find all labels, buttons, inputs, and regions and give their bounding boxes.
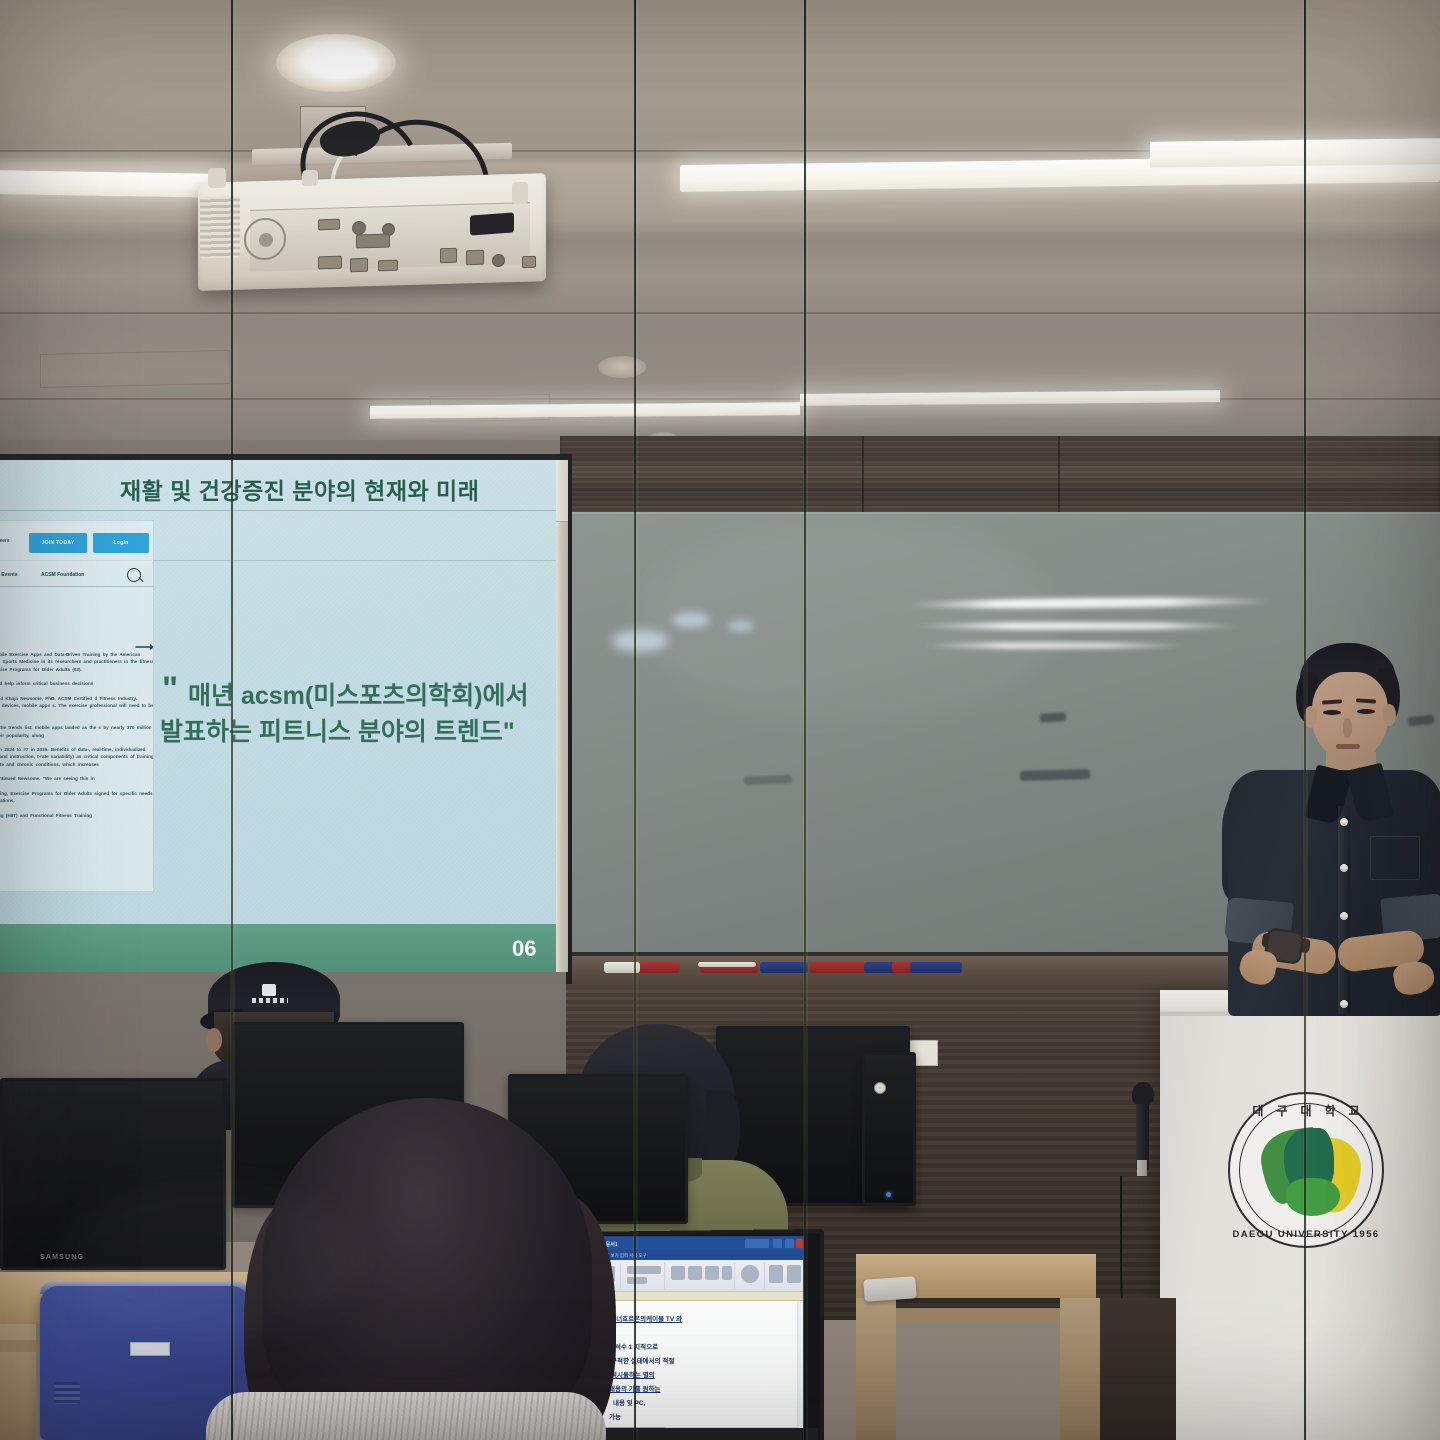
- microphone-band: [1137, 1160, 1147, 1176]
- webpage-paragraph: ology, Mobile Exercise Apps and Data-Dri…: [0, 651, 154, 673]
- student-ear: [206, 1028, 222, 1052]
- projector-port: [318, 219, 340, 231]
- presenter-eye: [1323, 710, 1341, 715]
- slide-divider: [0, 510, 556, 511]
- presenter-nose: [1343, 718, 1352, 738]
- webpage-paragraph: ntion," said Khaja Newsome, PhD, ACSM Ce…: [0, 695, 154, 717]
- document-text-line: 내용 및 PC,: [613, 1397, 645, 1407]
- classroom-photo-scene: 재활 및 건강증진 분야의 현재와 미래 Careers JOIN TODAY …: [0, 0, 1440, 1440]
- student-hair-foreground: [262, 1098, 592, 1440]
- glass-mullion: [1304, 0, 1306, 1440]
- smartphone-on-desk[interactable]: [863, 1276, 916, 1302]
- window-restore-button[interactable]: [745, 1239, 769, 1248]
- projector-foot: [208, 168, 226, 189]
- desktop-monitor: [0, 1078, 226, 1270]
- projector-port: [378, 260, 398, 272]
- webpage-paragraph: Programming, Exercise Programs for Older…: [0, 790, 154, 805]
- document-ruler: [587, 1292, 804, 1301]
- projector-vga-port: [356, 234, 390, 249]
- ceiling-strip-light: [0, 170, 215, 197]
- webpage-nav-foundation[interactable]: ACSM Foundation: [41, 572, 84, 578]
- ceiling-strip-light: [1150, 138, 1440, 168]
- presenter-shirt-placket: [1338, 806, 1350, 1014]
- monitor-brand-label: SAMSUNG: [40, 1254, 84, 1261]
- whiteboard-smudge: [744, 775, 792, 785]
- webpage-paragraph: ations, and help inform critical busines…: [0, 680, 154, 687]
- ceiling-seam: [0, 312, 1440, 314]
- webpage-paragraph: items on the trends list, mobile apps la…: [0, 724, 154, 739]
- glass-mullion: [231, 0, 233, 1440]
- projector-cable-plug: [470, 212, 514, 235]
- whiteboard-marker-red[interactable]: [810, 962, 870, 973]
- wood-panel-seam: [1058, 436, 1060, 514]
- desk-side-panel: [856, 1298, 896, 1440]
- desktop-monitor: [862, 1052, 916, 1206]
- shape-icon[interactable]: [741, 1265, 759, 1283]
- presenter-shirt-button: [1340, 1000, 1348, 1008]
- microphone-head[interactable]: [1132, 1082, 1154, 1106]
- glass-mullion: [804, 0, 806, 1440]
- document-text-line: 가능: [609, 1411, 621, 1421]
- desk-side-panel: [1060, 1298, 1100, 1440]
- whiteboard-marker-cap: [698, 962, 756, 967]
- document-ribbon[interactable]: [587, 1260, 804, 1292]
- floor: [1096, 1298, 1176, 1440]
- underline-icon[interactable]: [705, 1266, 719, 1280]
- webpage-careers-link[interactable]: Careers: [0, 538, 10, 544]
- table-icon[interactable]: [769, 1265, 783, 1283]
- whiteboard-light-reflection: [912, 622, 1242, 630]
- projector-port: [440, 248, 457, 263]
- window-close-button[interactable]: [796, 1239, 803, 1248]
- wood-paneling-band: [560, 436, 1440, 514]
- whiteboard-light-reflection: [920, 642, 1190, 649]
- presenter-mouth: [1336, 744, 1360, 749]
- document-title-bar: 한글 - 문서1: [587, 1237, 804, 1250]
- webpage-paragraph: njury," continued Newsome. "We are seein…: [0, 775, 154, 782]
- presenter-ear: [1383, 704, 1396, 726]
- webpage-join-button[interactable]: JOIN TODAY: [29, 533, 87, 553]
- slide-quote-line-2: 발표하는 피트니스 분야의 트렌드": [160, 712, 515, 748]
- window-maximize-button[interactable]: [785, 1239, 794, 1248]
- document-page[interactable]: 2. 제너흐르몬의케이블 TV 와 백석수 1 지적으로 요구적한 실태에서의 …: [595, 1301, 797, 1429]
- presenter-shirt-button: [1340, 912, 1348, 920]
- projector-port: [466, 250, 484, 266]
- slide-page-number: 06: [512, 936, 536, 962]
- slide-quote-mark: ": [162, 672, 178, 706]
- webpage-login-button[interactable]: Login: [93, 533, 149, 553]
- slide-webpage-screenshot: Careers JOIN TODAY Login gs & Events ACS…: [0, 520, 154, 892]
- whiteboard-smudge: [1040, 712, 1066, 722]
- ceiling-tile: [40, 350, 230, 388]
- presenter-shirt-pocket: [1370, 836, 1420, 880]
- document-menu-bar[interactable]: 파일 편집 보기 입력 서식 도구: [587, 1250, 804, 1260]
- projection-screen-roller[interactable]: [556, 460, 568, 972]
- document-window[interactable]: 한글 - 문서1 파일 편집 보기 입력 서식 도구 2. 제너흐르몬의케이블 …: [586, 1236, 804, 1440]
- bold-icon[interactable]: [671, 1266, 685, 1280]
- whiteboard-marker-blue[interactable]: [760, 962, 808, 973]
- projector-port: [350, 258, 368, 273]
- ceiling-seam: [0, 398, 1440, 400]
- monitor-power-led: [886, 1192, 891, 1197]
- whiteboard-glare: [672, 612, 710, 628]
- monitor-mount-dot: [874, 1082, 886, 1094]
- slide-title: 재활 및 건강증진 분야의 현재와 미래: [120, 472, 590, 506]
- projector-foot: [512, 182, 528, 204]
- webpage-article-body: ology, Mobile Exercise Apps and Data-Dri…: [0, 651, 154, 826]
- wood-panel-seam: [862, 436, 864, 514]
- whiteboard-glare: [612, 630, 668, 652]
- presenter-shirt-button: [1340, 864, 1348, 872]
- webpage-nav-events[interactable]: gs & Events: [0, 572, 18, 578]
- chair-label: [130, 1342, 170, 1356]
- projector-port: [522, 256, 536, 268]
- desk-shelf: [896, 1308, 1060, 1322]
- student-shoulders: [206, 1392, 606, 1440]
- projector-foot: [302, 170, 318, 186]
- whiteboard-glare: [728, 620, 754, 632]
- webpage-paragraph: rom #18 in 2024 to #7 in 2025. Benefits …: [0, 746, 154, 768]
- image-icon[interactable]: [787, 1265, 801, 1283]
- presenter-eye: [1357, 709, 1375, 714]
- glass-mullion: [634, 0, 636, 1440]
- chair-vent: [54, 1382, 80, 1404]
- align-icon[interactable]: [722, 1266, 732, 1280]
- cap-logo-text: [252, 998, 288, 1003]
- cap-logo-icon: [262, 984, 276, 996]
- slide-quote-line-1: 매년 acsm(미스포츠의학회)에서: [188, 676, 529, 712]
- ceiling-downlight-glow: [310, 50, 380, 78]
- presenter-shirt-button: [1340, 818, 1348, 826]
- whiteboard-marker-blue[interactable]: [910, 962, 962, 973]
- ceiling-downlight: [598, 356, 646, 378]
- projector-port: [318, 256, 342, 270]
- search-icon[interactable]: [127, 568, 141, 582]
- whiteboard-smudge: [1020, 769, 1090, 781]
- italic-icon[interactable]: [688, 1266, 702, 1280]
- whiteboard-marker-red[interactable]: [638, 962, 680, 973]
- window-minimize-button[interactable]: [773, 1239, 782, 1248]
- webpage-paragraph: val Training (HIIT) and Functional Fitne…: [0, 812, 154, 819]
